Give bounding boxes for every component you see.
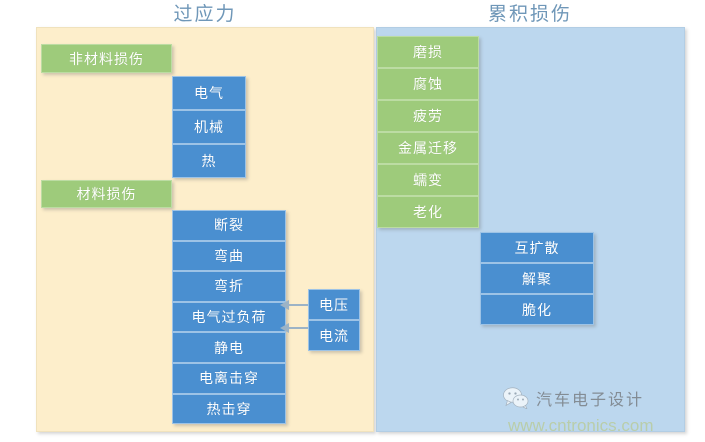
brand-account-name: 汽车电子设计: [536, 386, 644, 410]
node-cumulative-mode[interactable]: 老化: [377, 196, 479, 228]
node-material-mode[interactable]: 弯曲: [172, 241, 286, 272]
node-material-mode-electrical-overload[interactable]: 电气过负荷: [172, 302, 286, 333]
node-cumulative-mode[interactable]: 腐蚀: [377, 68, 479, 100]
category-material-damage[interactable]: 材料损伤: [41, 180, 172, 208]
group-electrical-sources: 电压 电流: [308, 289, 360, 351]
group-cumulative-chemical-modes: 互扩散 解聚 脆化: [480, 232, 594, 325]
node-chemical-mode[interactable]: 互扩散: [480, 232, 594, 263]
node-source-current[interactable]: 电流: [308, 320, 360, 351]
category-nonmaterial-damage[interactable]: 非材料损伤: [41, 44, 172, 73]
node-cumulative-mode[interactable]: 金属迁移: [377, 132, 479, 164]
arrow-current-to-electrical-overload: [288, 327, 308, 329]
node-chemical-mode[interactable]: 解聚: [480, 263, 594, 294]
node-source-voltage[interactable]: 电压: [308, 289, 360, 320]
node-chemical-mode[interactable]: 脆化: [480, 294, 594, 325]
group-cumulative-wear-modes: 磨损 腐蚀 疲劳 金属迁移 蠕变 老化: [377, 36, 479, 228]
brand-block: 汽车电子设计: [503, 386, 644, 410]
diagram-canvas: 过应力 累积损伤 非材料损伤 材料损伤 电气 机械 热 断裂 弯曲 弯折 电气过…: [0, 0, 705, 442]
node-overstress-mode[interactable]: 电气: [172, 76, 246, 110]
node-cumulative-mode[interactable]: 磨损: [377, 36, 479, 68]
section-title-cumulative: 累积损伤: [440, 1, 620, 27]
node-overstress-mode[interactable]: 热: [172, 144, 246, 178]
node-material-mode[interactable]: 热击穿: [172, 394, 286, 425]
group-material-damage-modes: 断裂 弯曲 弯折 电气过负荷 静电 电离击穿 热击穿: [172, 210, 286, 424]
site-watermark: www.cntronics.com: [508, 416, 653, 436]
wechat-icon: [503, 387, 529, 409]
node-material-mode[interactable]: 断裂: [172, 210, 286, 241]
node-material-mode[interactable]: 电离击穿: [172, 363, 286, 394]
node-material-mode[interactable]: 静电: [172, 332, 286, 363]
node-cumulative-mode[interactable]: 蠕变: [377, 164, 479, 196]
node-cumulative-mode[interactable]: 疲劳: [377, 100, 479, 132]
group-overstress-modes: 电气 机械 热: [172, 76, 246, 178]
node-material-mode[interactable]: 弯折: [172, 271, 286, 302]
arrow-voltage-to-electrical-overload: [288, 304, 308, 306]
section-title-overstress: 过应力: [120, 1, 290, 27]
node-overstress-mode[interactable]: 机械: [172, 110, 246, 144]
